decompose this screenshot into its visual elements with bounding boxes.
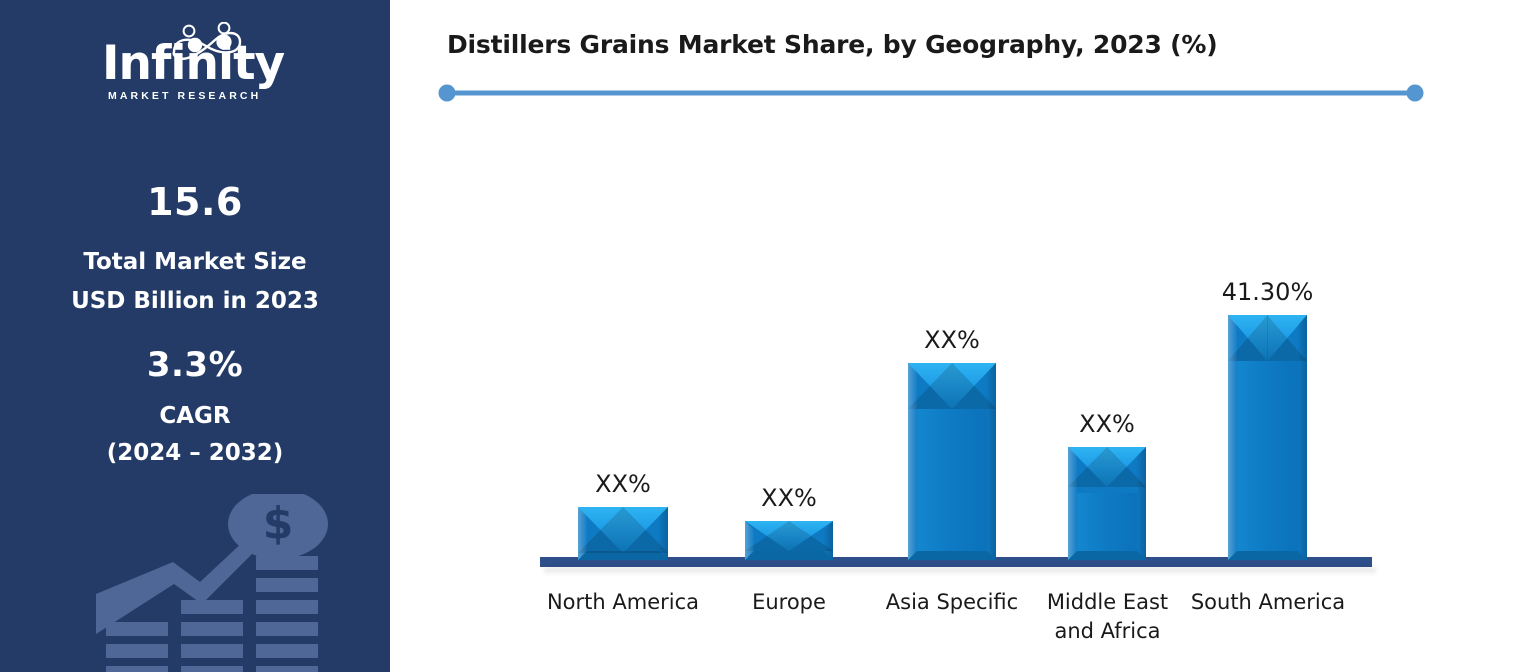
- bar-asia-specific[interactable]: XX%: [908, 363, 996, 560]
- bar-label-north-america: XX%: [595, 470, 651, 498]
- bar-south-america[interactable]: 41.30%: [1228, 315, 1307, 560]
- cagr-value: 3.3%: [0, 345, 390, 385]
- category-label-europe: Europe: [704, 588, 874, 617]
- bar-bottom-bevel: [1068, 551, 1146, 560]
- bar-bottom-bevel: [1228, 551, 1307, 560]
- bar-body: [745, 521, 833, 560]
- bar-label-south-america: 41.30%: [1222, 278, 1314, 306]
- cat-line: South America: [1183, 588, 1353, 617]
- sidebar: Infinity MARKET RESEARCH 15.6 Total Mark…: [0, 0, 390, 672]
- bar-top-bevel: [745, 521, 833, 551]
- svg-text:$: $: [263, 498, 294, 549]
- total-market-size-value: 15.6: [0, 180, 390, 224]
- cat-line: and Africa: [1025, 617, 1190, 646]
- bar-top-bevel: [1068, 447, 1146, 487]
- cagr-caption: CAGR (2024 – 2032): [0, 398, 390, 472]
- logo-tagline: MARKET RESEARCH: [108, 90, 261, 102]
- cagr-caption-line-1: CAGR: [0, 398, 390, 435]
- cat-line: Asia Specific: [867, 588, 1037, 617]
- cat-line: Europe: [704, 588, 874, 617]
- growth-arrow-coins-icon: $: [48, 494, 378, 672]
- category-label-asia-specific: Asia Specific: [867, 588, 1037, 617]
- bar-sheen: [1237, 361, 1298, 551]
- logo-mark: Infinity MARKET RESEARCH: [100, 26, 290, 108]
- bar-bottom-bevel: [908, 551, 996, 560]
- category-label-middle-east-and-africa: Middle East and Africa: [1025, 588, 1190, 646]
- market-size-caption-line-2: USD Billion in 2023: [0, 282, 390, 321]
- cat-line: Middle East: [1025, 588, 1190, 617]
- bar-sheen: [1077, 493, 1137, 551]
- bar-right-bevel: [659, 507, 668, 560]
- bar-right-bevel: [1137, 447, 1146, 560]
- bar-label-middle-east-and-africa: XX%: [1079, 410, 1135, 438]
- cat-line: North America: [533, 588, 713, 617]
- bar-right-bevel: [1298, 315, 1307, 560]
- bar-label-asia-specific: XX%: [924, 326, 980, 354]
- bar-sheen: [917, 409, 987, 551]
- bar-middle-east-and-africa[interactable]: XX%: [1068, 447, 1146, 560]
- logo-wordmark: Infinity: [102, 40, 284, 87]
- bar-top-bevel: [578, 507, 668, 553]
- bar-left-bevel: [908, 363, 917, 560]
- market-size-caption-line-1: Total Market Size: [0, 243, 390, 282]
- bar-left-bevel: [1068, 447, 1077, 560]
- bar-left-bevel: [1228, 315, 1237, 560]
- bar-top-bevel: [1228, 315, 1307, 361]
- bar-body: [1228, 315, 1307, 560]
- bar-bottom-bevel: [578, 551, 668, 560]
- bar-label-europe: XX%: [761, 484, 817, 512]
- category-label-north-america: North America: [533, 588, 713, 617]
- total-market-size-caption: Total Market Size USD Billion in 2023: [0, 243, 390, 321]
- bar-left-bevel: [578, 507, 587, 560]
- bar-europe[interactable]: XX%: [745, 521, 833, 560]
- category-label-south-america: South America: [1183, 588, 1353, 617]
- bar-body: [1068, 447, 1146, 560]
- cagr-caption-line-2: (2024 – 2032): [0, 435, 390, 472]
- bar-bottom-bevel: [745, 551, 833, 560]
- bar-north-america[interactable]: XX%: [578, 507, 668, 560]
- bar-body: [908, 363, 996, 560]
- bar-right-bevel: [987, 363, 996, 560]
- chart-panel: Distillers Grains Market Share, by Geogr…: [390, 0, 1532, 672]
- bar-chart-plot: XX% XX%: [390, 0, 1532, 672]
- bar-top-bevel: [908, 363, 996, 409]
- brand-logo: Infinity MARKET RESEARCH: [0, 26, 390, 108]
- bar-body: [578, 507, 668, 560]
